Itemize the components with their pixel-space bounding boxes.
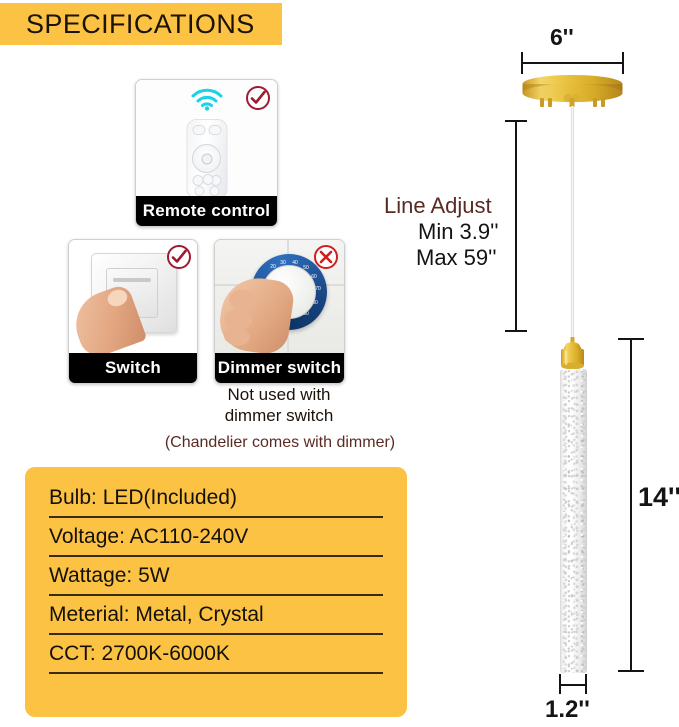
card-label-remote: Remote control xyxy=(136,196,277,226)
crystal-tube xyxy=(560,369,587,673)
dimension-tick-width-right xyxy=(585,674,587,694)
card-label-switch: Switch xyxy=(69,353,197,383)
dimension-tick-width-left xyxy=(559,674,561,694)
dimension-body-width: 1.2'' xyxy=(545,696,590,724)
dimension-canopy-width: 6'' xyxy=(550,24,574,51)
spec-row: Bulb: LED(Included) xyxy=(49,479,383,518)
spec-row: CCT: 2700K-6000K xyxy=(49,635,383,674)
usage-card-remote: Remote control xyxy=(135,79,278,227)
spec-row: Voltage: AC110-240V xyxy=(49,518,383,557)
dimension-tick-height-bottom xyxy=(618,670,644,672)
specifications-box: Bulb: LED(Included) Voltage: AC110-240V … xyxy=(25,467,407,717)
gold-lamp-cap xyxy=(556,337,589,371)
usage-card-switch: Switch xyxy=(68,239,198,384)
remote-illustration xyxy=(136,80,277,196)
dimension-tick-left xyxy=(521,52,523,74)
dimmer-illustration: 20 30 40 50 60 70 80 90 xyxy=(215,240,344,353)
line-adjust-max: Max 59'' xyxy=(416,245,497,271)
page-title-banner: SPECIFICATIONS xyxy=(0,3,282,45)
chandelier-note: (Chandelier comes with dimmer) xyxy=(140,432,420,453)
dimmer-warning-line2: dimmer switch xyxy=(203,405,355,426)
usage-card-dimmer: 20 30 40 50 60 70 80 90 xyxy=(214,239,345,384)
dimmer-warning-line1: Not used with xyxy=(203,384,355,405)
dimension-tick-bottom xyxy=(505,330,527,332)
spec-row: Meterial: Metal, Crystal xyxy=(49,596,383,635)
x-icon xyxy=(313,244,339,270)
line-adjust-min: Min 3.9'' xyxy=(418,219,499,245)
line-adjust-title: Line Adjust xyxy=(384,193,492,219)
switch-illustration xyxy=(69,240,197,353)
specification-sheet: SPECIFICATIONS xyxy=(0,0,679,727)
suspension-cord xyxy=(571,106,574,338)
remote-dpad xyxy=(192,144,221,173)
check-icon xyxy=(245,85,271,111)
check-icon xyxy=(166,244,192,270)
dimmer-warning-note: Not used with dimmer switch xyxy=(203,384,355,426)
remote-device xyxy=(186,119,227,196)
dimension-line-width xyxy=(559,684,587,686)
dimension-line-canopy xyxy=(521,62,624,64)
page-title: SPECIFICATIONS xyxy=(0,9,255,40)
dimension-tick-right xyxy=(622,52,624,74)
dimension-tick-height-top xyxy=(618,338,644,340)
dimension-line-cord xyxy=(515,120,517,332)
spec-row: Wattage: 5W xyxy=(49,557,383,596)
ceiling-canopy xyxy=(522,74,623,108)
wifi-signal-icon xyxy=(190,87,224,116)
card-label-dimmer: Dimmer switch xyxy=(215,353,344,383)
dimension-tick-top xyxy=(505,120,527,122)
dimension-body-height: 14'' xyxy=(638,482,679,513)
product-drawing: 6'' xyxy=(380,0,679,727)
svg-text:70: 70 xyxy=(315,286,321,292)
dimension-line-height xyxy=(630,338,632,672)
